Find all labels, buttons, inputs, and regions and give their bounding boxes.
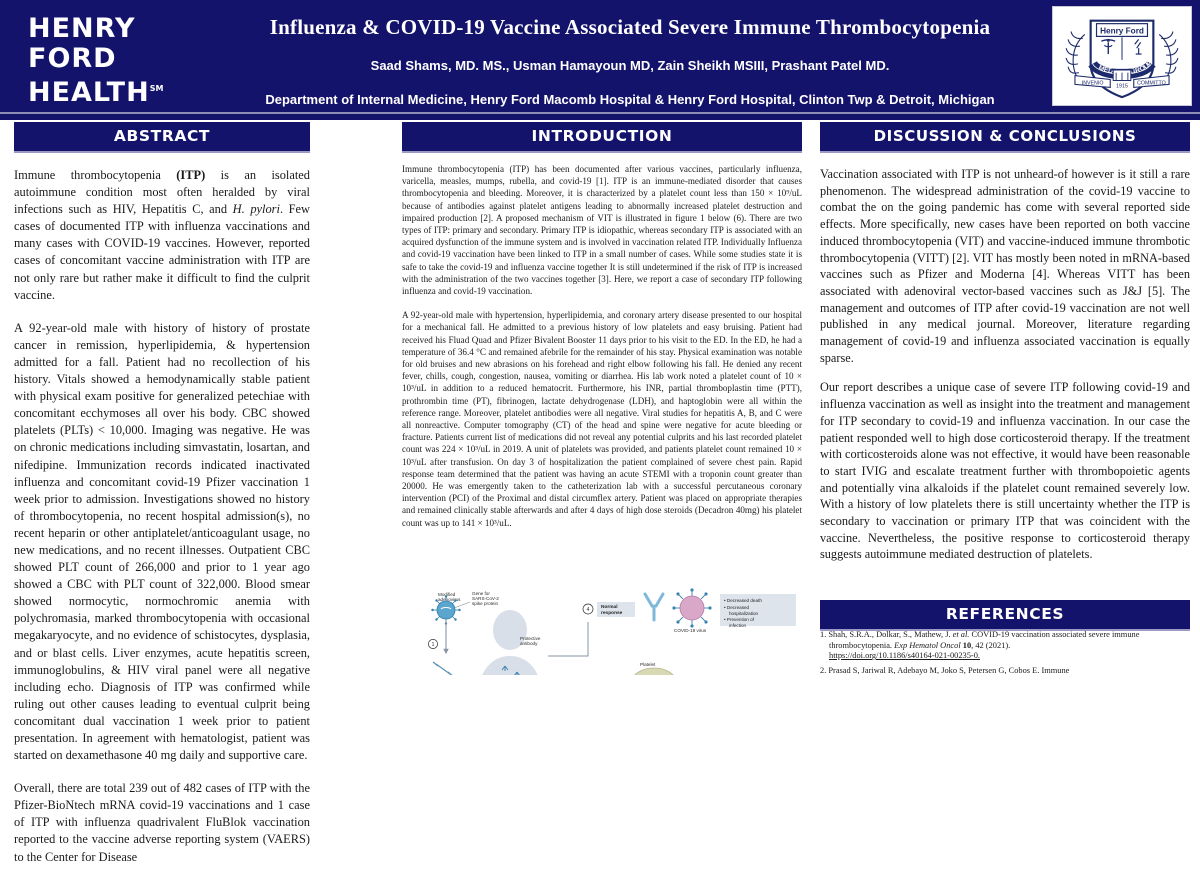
reference-1-journal: Exp Hematol Oncol xyxy=(894,641,961,650)
figure-outcome-1: • Decreased death xyxy=(724,598,762,603)
section-header-references: REFERENCES xyxy=(820,600,1190,631)
svg-text:spike protein: spike protein xyxy=(472,601,498,606)
logo-line-3: HEALTHSM xyxy=(28,74,203,108)
seal-top-label: Henry Ford xyxy=(1100,26,1144,35)
section-header-discussion: DISCUSSION & CONCLUSIONS xyxy=(820,122,1190,153)
poster-header: HENRY FORD HEALTHSM Influenza & COVID-19… xyxy=(0,0,1200,112)
seal-year: 1915 xyxy=(1116,83,1128,89)
figure-1-illustration: Modified adenovirus Gene for SARS-CoV-2 … xyxy=(402,578,802,675)
discussion-paragraph-2: Our report describes a unique case of se… xyxy=(820,379,1190,563)
svg-text:1: 1 xyxy=(432,642,435,648)
figure-label-normal-response: Normal xyxy=(601,604,618,610)
henry-ford-health-logo: HENRY FORD HEALTHSM xyxy=(28,14,203,108)
abstract-paragraph-1: Immune thrombocytopenia (ITP) is an isol… xyxy=(14,167,310,304)
reference-1-tail: , 42 (2021). xyxy=(971,641,1010,650)
introduction-paragraph-1: Immune thrombocytopenia (ITP) has been d… xyxy=(402,163,802,297)
references-header-wrap: REFERENCES xyxy=(820,600,1190,631)
svg-text:hospitalization: hospitalization xyxy=(729,611,759,616)
logo-line-1: HENRY xyxy=(28,14,203,44)
reference-1-number: 1. xyxy=(820,630,826,639)
figure-outcome-3: • Prevention of xyxy=(724,617,755,622)
references-list: 1. Shah, S.R.A., Dolkar, S., Mathew, J. … xyxy=(820,630,1190,675)
column-introduction: INTRODUCTION Immune thrombocytopenia (IT… xyxy=(402,122,802,541)
author-list: Saad Shams, MD. MS., Usman Hamayoun MD, … xyxy=(210,57,1050,75)
seal-right-ribbon: COMMITTO xyxy=(1137,80,1166,86)
header-divider xyxy=(0,112,1200,120)
column-abstract: ABSTRACT Immune thrombocytopenia (ITP) i… xyxy=(14,122,310,882)
poster-canvas: HENRY FORD HEALTHSM Influenza & COVID-19… xyxy=(0,0,1200,675)
introduction-paragraph-2: A 92-year-old male with hypertension, hy… xyxy=(402,309,802,529)
svg-text:4: 4 xyxy=(587,607,590,613)
reference-item-1: 1. Shah, S.R.A., Dolkar, S., Mathew, J. … xyxy=(820,630,1190,662)
svg-text:antibody: antibody xyxy=(520,641,538,646)
affiliation-line: Department of Internal Medicine, Henry F… xyxy=(210,91,1050,109)
seal-left-ribbon: INVENIO xyxy=(1082,80,1104,86)
header-text-block: Influenza & COVID-19 Vaccine Associated … xyxy=(210,10,1050,109)
reference-2-text: Prasad S, Jariwal R, Adebayo M, Joko S, … xyxy=(828,666,1069,675)
reference-item-2: 2. Prasad S, Jariwal R, Adebayo M, Joko … xyxy=(820,666,1190,675)
discussion-paragraph-1: Vaccination associated with ITP is not u… xyxy=(820,166,1190,366)
page-title: Influenza & COVID-19 Vaccine Associated … xyxy=(210,14,1050,40)
svg-text:adenovirus: adenovirus xyxy=(438,597,461,602)
svg-text:response: response xyxy=(601,610,623,616)
figure-label-covid-virus: COVID-19 virus xyxy=(674,628,707,633)
figure-label-platelet: Platelet xyxy=(640,662,656,667)
henry-ford-medical-group-seal: Henry Ford xyxy=(1052,6,1192,106)
logo-line-2: FORD xyxy=(28,44,203,74)
section-header-abstract: ABSTRACT xyxy=(14,122,310,153)
abstract-paragraph-3: Overall, there are total 239 out of 482 … xyxy=(14,780,310,865)
reference-1-etal: et al. xyxy=(953,630,970,639)
introduction-body: Immune thrombocytopenia (ITP) has been d… xyxy=(402,163,802,529)
reference-1-volume: 10 xyxy=(963,641,971,650)
section-header-introduction: INTRODUCTION xyxy=(402,122,802,153)
discussion-body: Vaccination associated with ITP is not u… xyxy=(820,166,1190,563)
svg-text:infection: infection xyxy=(729,623,747,628)
column-discussion: DISCUSSION & CONCLUSIONS Vaccination ass… xyxy=(820,122,1190,576)
logo-trademark: SM xyxy=(150,84,164,93)
reference-1-authors: Shah, S.R.A., Dolkar, S., Mathew, J. xyxy=(828,630,952,639)
covid-virus-icon xyxy=(672,588,711,627)
reference-1-doi-link[interactable]: https://doi.org/10.1186/s40164-021-00235… xyxy=(829,651,980,660)
figure-outcome-2: • Decreased xyxy=(724,605,750,610)
abstract-paragraph-2: A 92-year-old male with history of histo… xyxy=(14,320,310,764)
seal-icon: Henry Ford xyxy=(1053,7,1191,105)
abstract-body: Immune thrombocytopenia (ITP) is an isol… xyxy=(14,167,310,866)
reference-2-number: 2. xyxy=(820,666,826,675)
figure-1-vit-mechanism: Modified adenovirus Gene for SARS-CoV-2 … xyxy=(402,578,802,675)
